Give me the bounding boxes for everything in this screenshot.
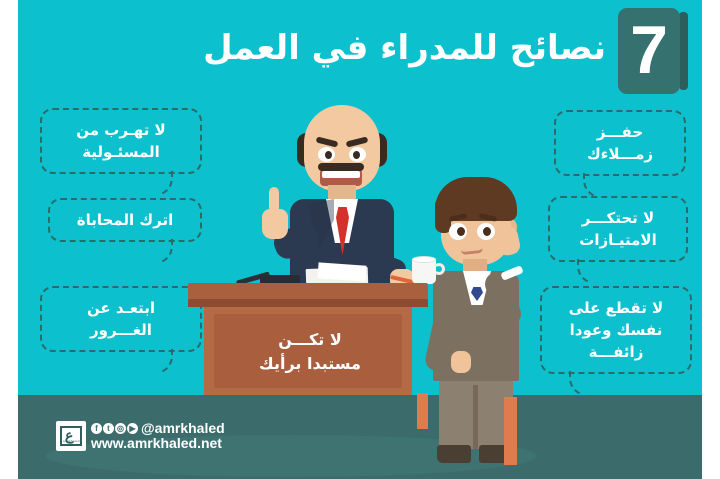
website-url[interactable]: www.amrkhaled.net xyxy=(91,436,225,451)
tip-line: اترك المحاباة xyxy=(60,209,190,231)
social-row: f t ◎ ▶ @amrkhaled xyxy=(91,421,225,436)
tip-bubble-left-3[interactable]: ابتعـد عن الغـــرور xyxy=(40,286,202,352)
social-handle[interactable]: @amrkhaled xyxy=(141,421,225,436)
coffee-mug-handle xyxy=(433,263,445,275)
furniture-leg-right xyxy=(504,397,517,465)
tip-line: لا تحتكـــر xyxy=(560,207,676,229)
pupil-left xyxy=(457,227,465,236)
furniture-leg-left xyxy=(417,393,428,429)
hand-lowered xyxy=(451,351,471,373)
tip-line: زمـــلاءك xyxy=(566,143,674,165)
tip-line: المسئـولية xyxy=(52,141,190,163)
tip-line: الامتيـازات xyxy=(560,229,676,251)
logo-caption: amrkhaled xyxy=(63,439,80,443)
tip-bubble-left-2[interactable]: اترك المحاباة xyxy=(48,198,202,242)
hand-left xyxy=(262,209,288,239)
bubble-tail-icon xyxy=(160,236,186,262)
amrkhaled-logo[interactable]: ع amrkhaled xyxy=(56,421,86,451)
number-badge: 7 xyxy=(618,8,680,94)
leg-gap xyxy=(473,385,478,449)
tip-line: حفـــز xyxy=(566,121,674,143)
tip-center-text: لا تكـــن مستبدا برأيك xyxy=(226,328,394,376)
instagram-icon[interactable]: ◎ xyxy=(115,423,126,434)
teeth xyxy=(322,171,360,178)
pupil-left xyxy=(325,151,332,159)
pupil-right xyxy=(483,227,491,236)
tip-line: لا تكـــن xyxy=(226,328,394,352)
bubble-tail-icon xyxy=(570,170,596,196)
bubble-tail-icon xyxy=(160,346,186,372)
employee-character xyxy=(423,175,573,479)
number-badge-edge xyxy=(679,12,688,90)
tip-bubble-left-1[interactable]: لا تهـرب من المسئـولية xyxy=(40,108,202,174)
shoe-left xyxy=(437,445,471,463)
mustache xyxy=(318,163,364,171)
tip-bubble-right-1[interactable]: حفـــز زمـــلاءك xyxy=(554,110,686,176)
header: نصائح للمدراء في العمل 7 xyxy=(18,8,702,92)
tip-line: الغـــرور xyxy=(52,319,190,341)
pupil-right xyxy=(353,151,360,159)
infographic-poster: نصائح للمدراء في العمل 7 لا تهـرب من الم… xyxy=(18,0,702,479)
coffee-mug-rim xyxy=(412,256,436,263)
footer-text: f t ◎ ▶ @amrkhaled www.amrkhaled.net xyxy=(91,421,225,450)
pointing-finger-icon xyxy=(269,187,279,213)
desk-lip xyxy=(188,299,428,307)
logo-frame: ع amrkhaled xyxy=(60,426,82,446)
tip-line: لا تهـرب من xyxy=(52,119,190,141)
papers-top-icon xyxy=(318,262,367,281)
tip-line: مستبدا برأيك xyxy=(226,352,394,376)
tip-line: ابتعـد عن xyxy=(52,297,190,319)
footer-branding: ع amrkhaled f t ◎ ▶ @amrkhaled www.amrkh… xyxy=(56,421,225,451)
desk-top xyxy=(188,283,428,299)
page-title: نصائح للمدراء في العمل xyxy=(58,22,606,74)
twitter-icon[interactable]: t xyxy=(103,423,114,434)
bubble-tail-icon xyxy=(160,168,186,194)
youtube-icon[interactable]: ▶ xyxy=(127,423,138,434)
facebook-icon[interactable]: f xyxy=(91,423,102,434)
